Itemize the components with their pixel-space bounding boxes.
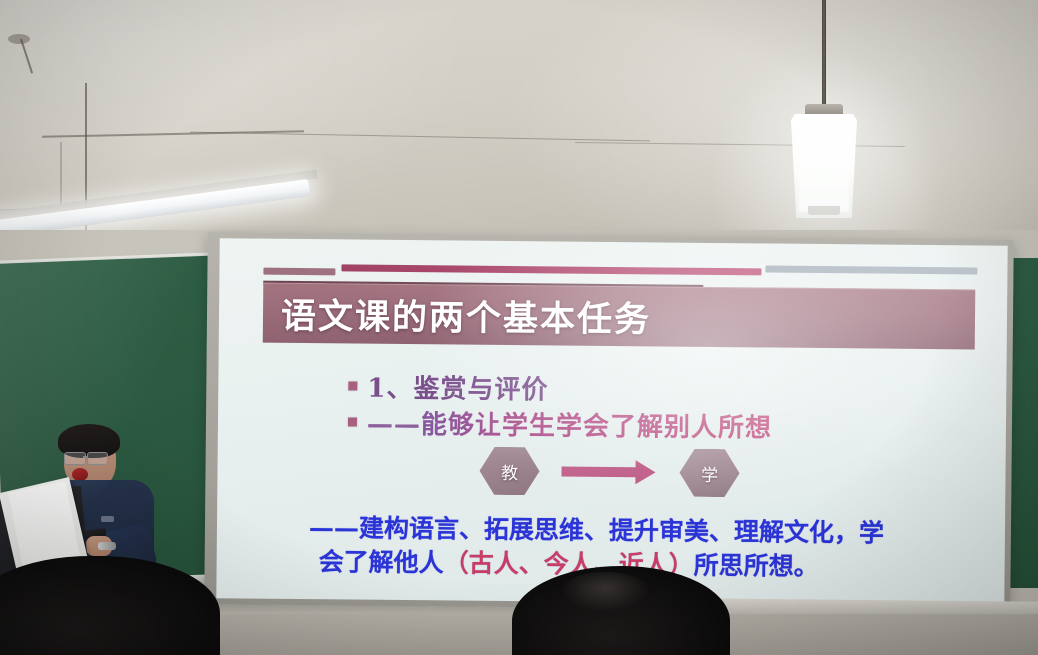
arrow-head-icon: [635, 460, 655, 484]
teach-learn-diagram: 教 学: [479, 447, 739, 499]
wristwatch-icon: [98, 542, 116, 550]
body-dash: ——: [309, 513, 359, 542]
bullet-square-icon: [348, 417, 357, 426]
lamp-bottom: [808, 206, 840, 215]
body-line-1: 建构语言、拓展思维、提升审美、理解文化，学: [359, 514, 884, 548]
student-hair-highlight: [560, 572, 650, 612]
bullet-item-2: ——能够让学生学会了解别人所想: [348, 403, 772, 444]
slide-decor-bars: [263, 263, 975, 282]
bullet-2-label: ——能够让学生学会了解别人所想: [367, 404, 772, 445]
hexagon-node-learn: 学: [679, 449, 739, 498]
slide-title: 语文课的两个基本任务: [281, 288, 651, 343]
body-line-2b: 所思所想。: [694, 550, 819, 580]
arrow-right-icon: [561, 467, 637, 478]
glasses-icon: [64, 452, 86, 465]
decor-bar-mauve: [263, 268, 335, 276]
hexagon-node-teach: 教: [479, 447, 539, 496]
lamp-diffuser: [799, 120, 849, 212]
decor-bar-magenta: [341, 264, 761, 275]
bullet-1-label: 1、鉴赏与评价: [367, 368, 548, 407]
glasses-bridge: [83, 456, 88, 458]
decor-bar-steel: [765, 265, 977, 274]
shirt-logo: [101, 516, 114, 522]
bullet-2-dash: ——: [367, 410, 421, 441]
presentation-slide: 语文课的两个基本任务 1、鉴赏与评价 ——能够让学生学会了解别人所想 教 学 —…: [216, 238, 1007, 606]
paren-open: （: [444, 548, 469, 577]
bullet-item-1: 1、鉴赏与评价: [348, 367, 548, 406]
glasses-icon: [87, 452, 108, 465]
bullet-square-icon: [348, 381, 357, 390]
projection-screen: 语文课的两个基本任务 1、鉴赏与评价 ——能够让学生学会了解别人所想 教 学 —…: [216, 238, 1007, 606]
lamp-rod: [822, 0, 826, 110]
ceiling-wire: [85, 83, 87, 253]
classroom-photo: 语文课的两个基本任务 1、鉴赏与评价 ——能够让学生学会了解别人所想 教 学 —…: [0, 0, 1038, 655]
ceiling-conduit: [60, 142, 62, 212]
body-line-2a: 会了解他人: [319, 547, 444, 577]
bullet-2-text: 能够让学生学会了解别人所想: [421, 410, 772, 443]
